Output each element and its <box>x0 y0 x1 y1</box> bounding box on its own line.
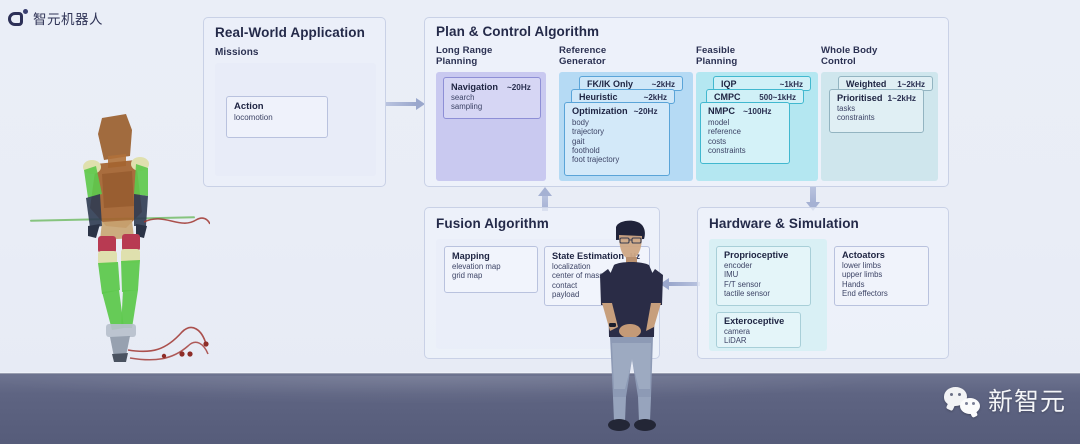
col4-line2: Control <box>821 56 856 67</box>
card-exteroceptive-item-0: camera <box>724 327 800 336</box>
card-navigation: Navigation ~20Hz search sampling <box>443 77 541 119</box>
column-title-feasible-planning: Feasible Planning <box>696 46 737 67</box>
simulated-humanoid-robot <box>40 104 210 364</box>
col2-line1: Reference <box>559 45 606 56</box>
col3-line2: Planning <box>696 56 737 67</box>
agibot-logo-icon <box>8 9 27 28</box>
brand-name: 智元机器人 <box>33 8 103 28</box>
card-prioritised: Prioritised 1~2kHz tasks constraints <box>829 89 924 133</box>
card-proprioceptive-item-1: IMU <box>724 270 810 279</box>
card-optimization-item-4: foot trajectory <box>572 155 669 164</box>
card-nmpc: NMPC ~100Hz model reference costs constr… <box>700 102 790 164</box>
watermark-text: 新智元 <box>988 382 1066 418</box>
card-weighted-name: Weighted <box>846 79 886 89</box>
card-action-name: Action <box>234 101 264 112</box>
presentation-scene: 智元机器人 <box>0 0 1080 444</box>
card-mapping-item-1: grid map <box>452 271 537 280</box>
presenter-svg <box>588 219 674 435</box>
card-exteroceptive-item-1: LiDAR <box>724 336 800 345</box>
col1-line1: Long Range <box>436 45 492 56</box>
card-prioritised-item-0: tasks <box>837 104 923 113</box>
card-proprioceptive-item-3: tactile sensor <box>724 289 810 298</box>
col4-line1: Whole Body <box>821 45 877 56</box>
card-prioritised-item-1: constraints <box>837 113 923 122</box>
column-title-whole-body-control: Whole Body Control <box>821 46 877 67</box>
card-mapping: Mapping elevation map grid map <box>444 246 538 293</box>
panel-title-plan-control: Plan & Control Algorithm <box>436 24 599 39</box>
wechat-icon <box>944 387 980 414</box>
card-exteroceptive-name: Exteroceptive <box>724 316 784 326</box>
card-cmpc-name: CMPC <box>714 92 741 102</box>
presenter <box>588 219 674 435</box>
card-nmpc-name: NMPC <box>708 106 735 116</box>
card-optimization-item-0: body <box>572 118 669 127</box>
card-nmpc-item-2: costs <box>708 137 789 146</box>
card-fk-ik-name: FK/IK Only <box>587 79 633 89</box>
channel-watermark: 新智元 <box>944 382 1066 418</box>
card-optimization-hz: ~20Hz <box>634 107 658 116</box>
card-actoators: Actoators lower limbs upper limbs Hands … <box>834 246 929 306</box>
robot-svg <box>40 104 210 364</box>
card-actoators-item-1: upper limbs <box>842 270 928 279</box>
card-action-item: locomotion <box>227 112 327 123</box>
brand-logo: 智元机器人 <box>8 8 103 28</box>
card-heuristic-hz: ~2kHz <box>644 93 667 102</box>
card-iqp-name: IQP <box>721 79 737 89</box>
card-proprioceptive: Proprioceptive encoder IMU F/T sensor ta… <box>716 246 811 306</box>
panel-plan-control-algorithm: Plan & Control Algorithm Long Range Plan… <box>424 17 949 187</box>
col3-line1: Feasible <box>696 45 735 56</box>
card-navigation-item-0: search <box>451 93 540 102</box>
panel-real-world-application: Real-World Application Missions Action l… <box>203 17 386 187</box>
card-optimization-name: Optimization <box>572 106 628 116</box>
card-proprioceptive-item-0: encoder <box>724 261 810 270</box>
col2-line2: Generator <box>559 56 606 67</box>
card-heuristic-name: Heuristic <box>579 92 618 102</box>
column-title-reference-generator: Reference Generator <box>559 46 606 67</box>
card-proprioceptive-item-2: F/T sensor <box>724 280 810 289</box>
floor-reflection <box>0 376 1080 416</box>
card-optimization-item-2: gait <box>572 137 669 146</box>
panel-hardware-simulation: Hardware & Simulation Proprioceptive enc… <box>697 207 949 359</box>
card-mapping-item-0: elevation map <box>452 262 537 271</box>
column-title-long-range-planning: Long Range Planning <box>436 46 492 67</box>
label-missions: Missions <box>215 47 259 58</box>
card-weighted-hz: 1~2kHz <box>897 80 925 89</box>
panel-title-real-world: Real-World Application <box>215 25 365 40</box>
card-action: Action locomotion <box>226 96 328 138</box>
col1-line2: Planning <box>436 56 477 67</box>
card-exteroceptive: Exteroceptive camera LiDAR <box>716 312 801 348</box>
card-proprioceptive-name: Proprioceptive <box>724 250 788 260</box>
card-nmpc-hz: ~100Hz <box>743 107 771 116</box>
card-navigation-item-1: sampling <box>451 102 540 111</box>
card-optimization-item-3: foothold <box>572 146 669 155</box>
card-actoators-item-0: lower limbs <box>842 261 928 270</box>
card-prioritised-name: Prioritised <box>837 93 882 103</box>
card-mapping-name: Mapping <box>452 251 490 261</box>
card-navigation-hz: ~20Hz <box>507 83 531 92</box>
card-cmpc-hz: 500~1kHz <box>759 93 796 102</box>
card-actoators-item-3: End effectors <box>842 289 928 298</box>
card-actoators-item-2: Hands <box>842 280 928 289</box>
card-nmpc-item-3: constraints <box>708 146 789 155</box>
floor-wall-seam <box>0 372 1080 374</box>
card-iqp-hz: ~1kHz <box>780 80 803 89</box>
card-navigation-name: Navigation <box>451 82 498 92</box>
card-actoators-name: Actoators <box>842 250 885 260</box>
card-fk-ik-hz: ~2kHz <box>652 80 675 89</box>
card-nmpc-item-1: reference <box>708 127 789 136</box>
card-optimization: Optimization ~20Hz body trajectory gait … <box>564 102 670 176</box>
panel-title-fusion: Fusion Algorithm <box>436 216 549 231</box>
card-nmpc-item-0: model <box>708 118 789 127</box>
card-prioritised-hz: 1~2kHz <box>888 94 916 103</box>
panel-title-hardware: Hardware & Simulation <box>709 216 859 231</box>
card-optimization-item-1: trajectory <box>572 127 669 136</box>
arrow-real-world-to-plan <box>386 98 426 110</box>
